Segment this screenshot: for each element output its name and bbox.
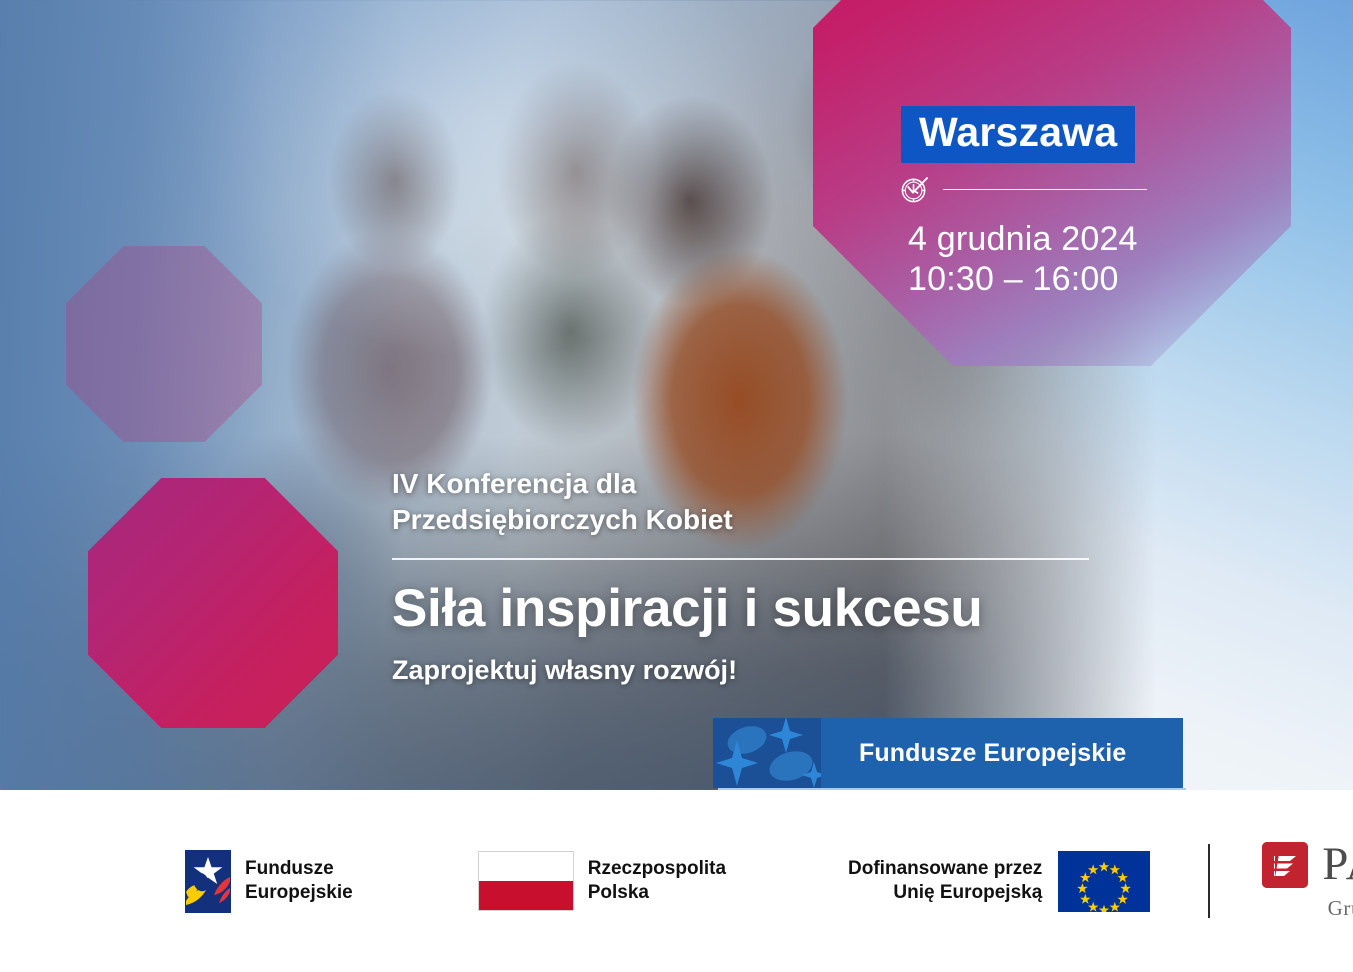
decorative-octagon-solid — [88, 478, 338, 728]
logo-parp: PARP Grupa PFR — [1262, 841, 1353, 921]
fundusze-europejskie-ribbon: Fundusze Europejskie — [713, 718, 1183, 788]
page-title: Siła inspiracji i sukcesu — [392, 579, 1102, 639]
footer-logo-group: Fundusze Europejskie Rzeczpospolita Pols… — [0, 841, 1353, 921]
european-union-flag-icon — [1058, 851, 1150, 912]
decorative-octagon-ghost — [66, 246, 262, 442]
footer-divider — [1208, 844, 1210, 918]
logo-fe-line2: Europejskie — [245, 882, 353, 903]
footer-logo-bar: Fundusze Europejskie Rzeczpospolita Pols… — [0, 790, 1353, 972]
meta-horizontal-rule — [943, 189, 1147, 190]
logo-unia-europejska: Dofinansowane przez Unię Europejską — [848, 851, 1150, 912]
page-subtitle: Zaprojektuj własny rozwój! — [392, 654, 1102, 688]
event-date: 4 grudnia 2024 — [908, 218, 1138, 261]
clock-check-icon — [899, 174, 930, 205]
logo-rp-line1: Rzeczpospolita — [588, 858, 726, 879]
event-meta-divider-row — [899, 172, 1147, 206]
logo-rp-line2: Polska — [588, 882, 649, 903]
logo-rzeczpospolita-text: Rzeczpospolita Polska — [588, 857, 726, 906]
parp-mark-icon — [1262, 842, 1308, 888]
fundusze-europejskie-flag-icon — [185, 850, 231, 913]
conference-promo-banner: Warszawa 4 grudnia 2024 10:30 – 16:00 — [0, 0, 1353, 972]
logo-fundusze-europejskie: Fundusze Europejskie — [185, 850, 353, 913]
city-badge: Warszawa — [901, 106, 1135, 163]
fundusze-europejskie-ribbon-label: Fundusze Europejskie — [821, 718, 1183, 788]
conference-eyebrow-line1: IV Konferencja dla — [392, 466, 1102, 502]
logo-eu-text: Dofinansowane przez Unię Europejską — [848, 857, 1042, 906]
fundusze-europejskie-stars-icon — [713, 718, 821, 788]
conference-eyebrow-line2: Przedsiębiorczych Kobiet — [392, 502, 1102, 538]
parp-wordmark: PARP — [1322, 841, 1353, 888]
event-time: 10:30 – 16:00 — [908, 258, 1119, 301]
logo-fe-line1: Fundusze — [245, 858, 334, 879]
hero-section: Warszawa 4 grudnia 2024 10:30 – 16:00 — [0, 0, 1353, 790]
headline-block: IV Konferencja dla Przedsiębiorczych Kob… — [392, 466, 1102, 687]
logo-fundusze-europejskie-text: Fundusze Europejskie — [245, 857, 353, 906]
logo-rzeczpospolita-polska: Rzeczpospolita Polska — [478, 851, 726, 911]
headline-divider — [392, 558, 1089, 560]
logo-eu-line2: Unię Europejską — [893, 882, 1042, 903]
logo-eu-line1: Dofinansowane przez — [848, 858, 1042, 879]
parp-logo-row: PARP — [1262, 841, 1353, 888]
poland-flag-icon — [478, 851, 574, 911]
parp-tagline: Grupa PFR — [1328, 896, 1353, 921]
